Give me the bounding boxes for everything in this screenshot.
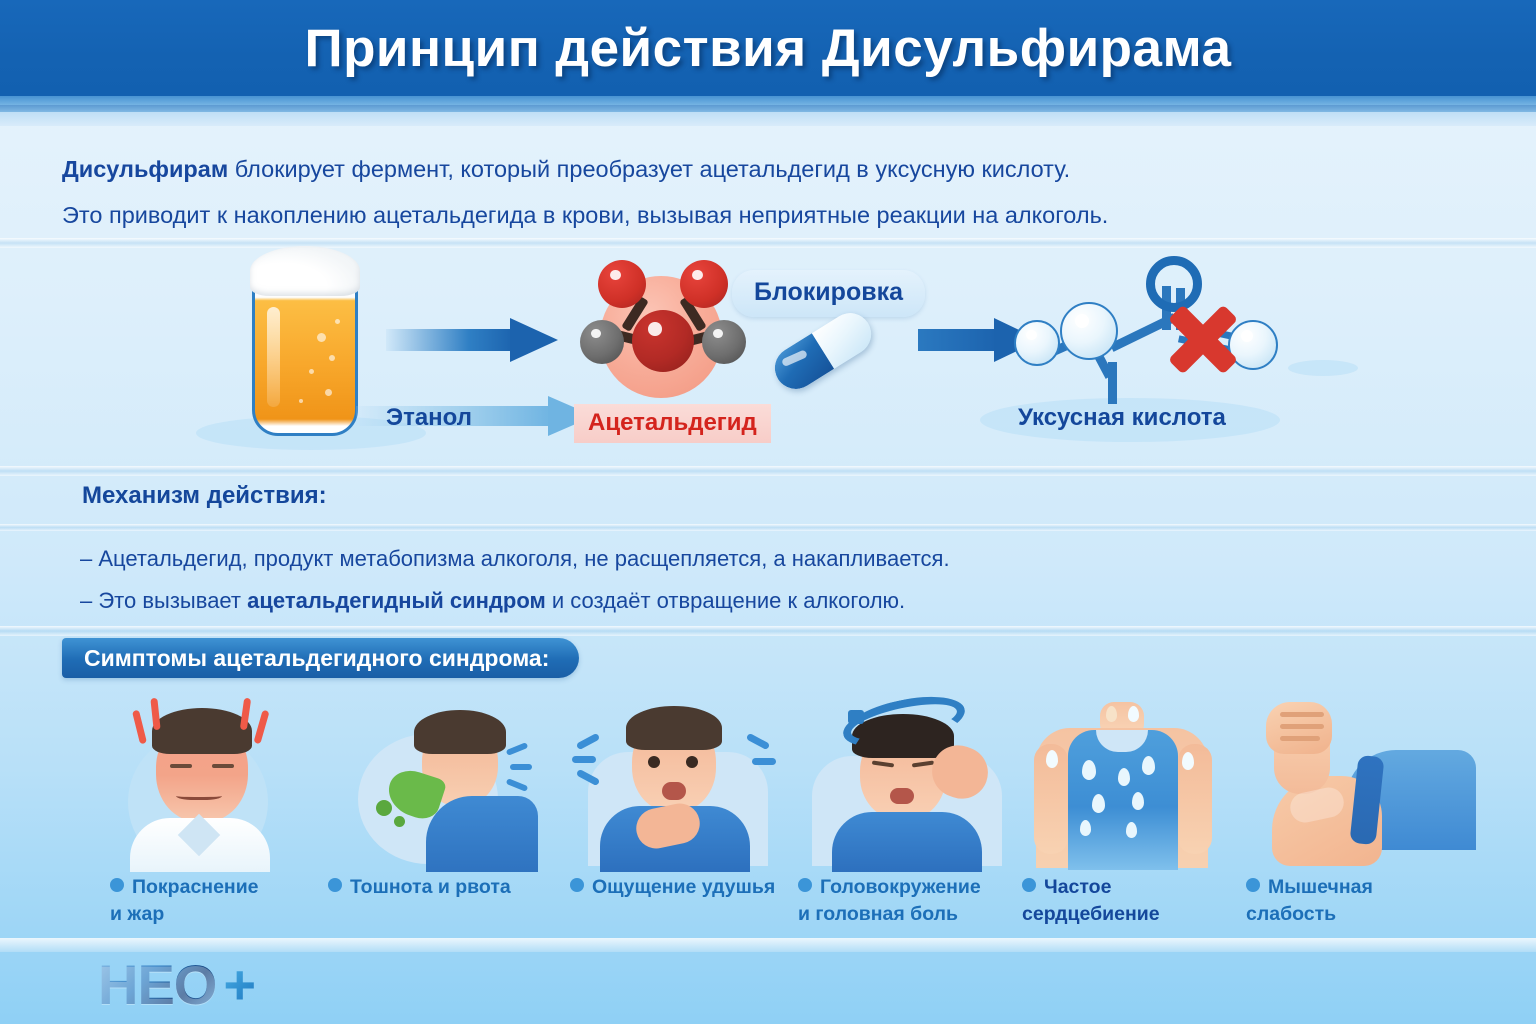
red-x-icon xyxy=(1164,300,1242,378)
page-header: Принцип действия Дисульфирама xyxy=(0,0,1536,96)
vomiting-person-icon xyxy=(328,694,558,866)
symptom-item-vomiting: Тошнота и рвота xyxy=(328,694,558,944)
intro-line-1-rest: блокирует фермент, который преобразует а… xyxy=(228,156,1070,182)
section-divider-mechanism xyxy=(0,466,1536,476)
header-wave-2 xyxy=(0,105,1536,112)
header-wave-3 xyxy=(0,112,1536,126)
blocking-badge-label: Блокировка xyxy=(754,278,903,306)
intro-text-block: Дисульфирам блокирует фермент, который п… xyxy=(62,146,1462,238)
symptom-item-palpitations: Частое сердцебиение xyxy=(1022,694,1252,944)
bullet-dot-icon xyxy=(570,878,584,892)
symptom-label-dizzy: Головокружение и головная боль xyxy=(798,874,1030,928)
acetaldehyde-label: Ацетальдегид xyxy=(574,404,771,443)
acetic-acid-molecule-icon xyxy=(996,262,1288,398)
symptom-label-palpitations: Частое сердцебиение xyxy=(1022,874,1254,928)
symptom-item-choking: Ощущение удушья xyxy=(570,694,800,944)
section-divider-symptoms xyxy=(0,626,1536,636)
arrow-right-icon-1 xyxy=(386,318,558,362)
sweating-torso-icon xyxy=(1022,694,1252,866)
blocking-badge: Блокировка xyxy=(732,270,925,317)
bullet-dot-icon xyxy=(110,878,124,892)
symptom-label-choking: Ощущение удушья xyxy=(570,874,802,901)
mechanism-item-2-post: и создаёт отвращение к алкоголю. xyxy=(546,588,905,613)
mechanism-item-2: – Это вызывает ацетальдегидный синдром и… xyxy=(80,580,1420,622)
bullet-dot-icon xyxy=(798,878,812,892)
section-divider-mechanism-2 xyxy=(0,524,1536,531)
footer-divider xyxy=(0,938,1536,952)
dizzy-person-icon xyxy=(798,694,1028,866)
ethanol-label: Этанол xyxy=(386,404,472,432)
page-title: Принцип действия Дисульфирама xyxy=(304,18,1231,79)
mechanism-item-1-prefix: – xyxy=(80,546,98,571)
symptoms-grid: Покраснение и жар Тошнота и рвота xyxy=(0,694,1536,944)
brand-logo: НЕО + xyxy=(98,952,256,1017)
symptoms-header-banner: Симптомы ацетальдегидного синдрома: xyxy=(62,638,579,678)
acetaldehyde-molecule-icon xyxy=(576,258,756,398)
choking-person-icon xyxy=(570,694,800,866)
bullet-dot-icon xyxy=(1246,878,1260,892)
beer-glass-icon xyxy=(252,256,358,436)
logo-text: НЕО xyxy=(98,952,216,1017)
intro-line-1: Дисульфирам блокирует фермент, который п… xyxy=(62,146,1462,192)
intro-line-2: Это приводит к накоплению ацетальдегида … xyxy=(62,192,1462,238)
section-divider-top xyxy=(0,238,1536,248)
mechanism-list: – Ацетальдегид, продукт метабопизма алко… xyxy=(80,538,1420,622)
logo-plus-icon: + xyxy=(223,952,256,1017)
intro-bold-term: Дисульфирам xyxy=(62,156,228,182)
flexed-arm-icon xyxy=(1246,694,1476,866)
bullet-dot-icon xyxy=(328,878,342,892)
symptoms-header-label: Симптомы ацетальдегидного синдрома: xyxy=(84,645,549,672)
infographic-page: Принцип действия Дисульфирама Дисульфира… xyxy=(0,0,1536,1024)
acetic-acid-label: Уксусная кислота xyxy=(1018,404,1226,432)
symptom-item-dizzy: Головокружение и головная боль xyxy=(798,694,1028,944)
mechanism-item-2-prefix: – xyxy=(80,588,98,613)
symptom-item-flushed: Покраснение и жар xyxy=(110,694,340,944)
mechanism-item-2-bold: ацетальдегидный синдром xyxy=(247,588,546,613)
header-wave-1 xyxy=(0,96,1536,105)
bullet-dot-icon xyxy=(1022,878,1036,892)
mechanism-item-1: – Ацетальдегид, продукт метабопизма алко… xyxy=(80,538,1420,580)
mechanism-item-1-text: Ацетальдегид, продукт метабопизма алкого… xyxy=(98,546,949,571)
puddle-shadow-small xyxy=(1288,360,1358,376)
mechanism-title: Механизм действия: xyxy=(82,482,327,510)
symptom-item-weakness: Мышечная слабость xyxy=(1246,694,1476,944)
symptom-label-vomiting: Тошнота и рвота xyxy=(328,874,560,901)
mechanism-item-2-pre: Это вызывает xyxy=(98,588,247,613)
symptom-label-flushed: Покраснение и жар xyxy=(110,874,342,928)
symptom-label-weakness: Мышечная слабость xyxy=(1246,874,1478,928)
flushed-face-icon xyxy=(110,694,340,866)
